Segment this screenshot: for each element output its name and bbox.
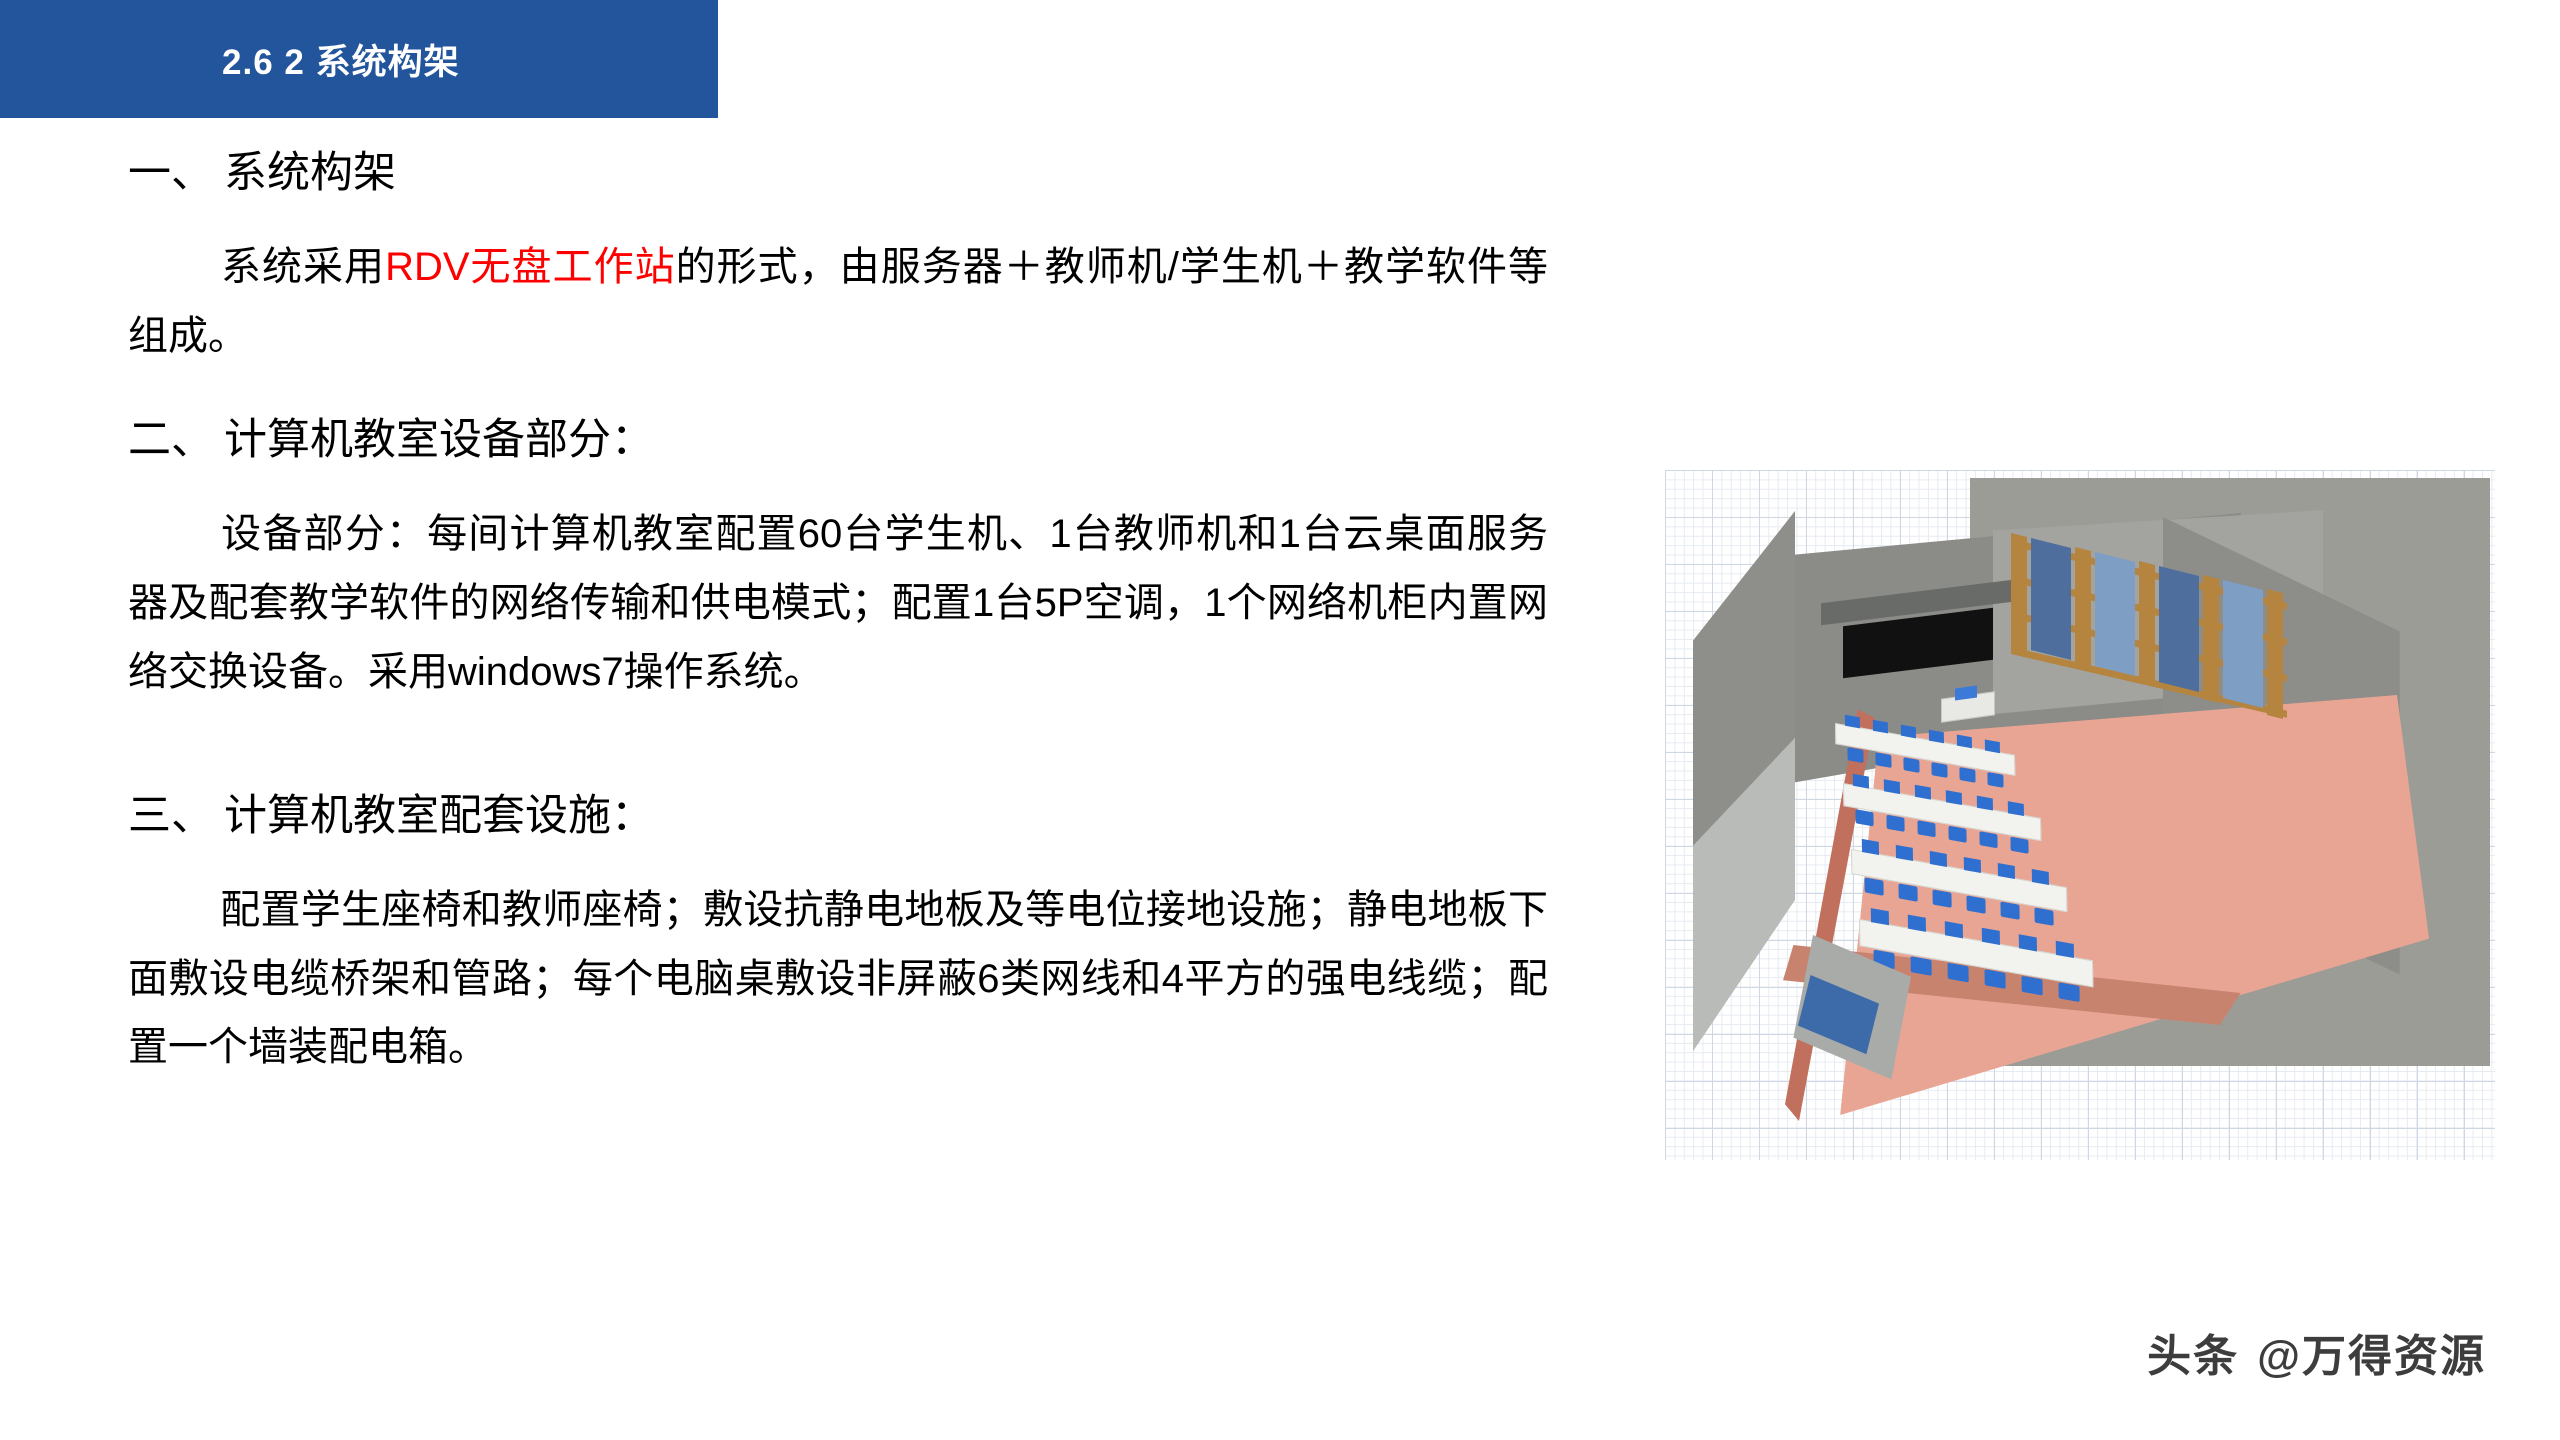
section-separator-2: 、 (171, 416, 224, 464)
header-banner: 2.6 2 系统构架 (0, 0, 718, 118)
section-separator-3: 、 (171, 792, 224, 840)
student-chair (1959, 767, 1975, 783)
student-chair (1847, 747, 1863, 763)
wood-panel (2203, 575, 2219, 703)
section-paragraph-2: 设备部分：每间计算机教室配置60台学生机、1台教师机和1台云桌面服务器及配套教学… (128, 500, 1548, 706)
wood-panel (2139, 561, 2155, 687)
window-pane (2223, 580, 2263, 708)
section-title-2: 计算机教室设备部分： (224, 416, 654, 464)
student-monitor (1945, 921, 1963, 938)
student-chair (1932, 889, 1951, 907)
student-monitor (2019, 934, 2037, 951)
window-pane (2031, 538, 2071, 660)
student-chair (1948, 826, 1966, 843)
student-chair (1931, 762, 1947, 778)
paragraph-text-3: 配置学生座椅和教师座椅；敷设抗静电地板及等电位接地设施；静电地板下面敷设电缆桥架… (128, 888, 1548, 1070)
student-monitor (1964, 857, 1981, 873)
paragraph-part-highlight: RDV无盘工作站 (385, 245, 676, 289)
student-monitor (1871, 908, 1889, 925)
watermark-brand: 头条 (2147, 1320, 2239, 1384)
section-number-1: 一 (128, 149, 171, 197)
section-paragraph-1: 系统采用RDV无盘工作站的形式，由服务器＋教师机/学生机＋教学软件等组成。 (128, 233, 1548, 371)
wood-panel (2267, 589, 2283, 719)
watermark: 头条 @万得资源 (2147, 1320, 2486, 1384)
student-monitor (1908, 915, 1926, 932)
section-separator-1: 、 (171, 149, 224, 197)
wood-panel (2075, 547, 2091, 671)
student-chair (2000, 901, 2019, 919)
content-body: 一、系统构架 系统采用RDV无盘工作站的形式，由服务器＋教师机/学生机＋教学软件… (0, 150, 1610, 1300)
student-chair (1903, 757, 1919, 773)
section-title-1: 系统构架 (224, 149, 396, 197)
watermark-handle: @万得资源 (2257, 1320, 2486, 1384)
wood-panel (2011, 533, 2027, 655)
student-chair (1898, 883, 1917, 901)
section-heading-3: 三、计算机教室配套设施： (128, 793, 1610, 840)
student-monitor (2056, 941, 2074, 958)
classroom-room-shell (1693, 505, 2483, 1135)
student-monitor (2032, 869, 2049, 885)
student-monitor (1998, 863, 2015, 879)
student-chair (1855, 809, 1873, 826)
student-chair (1886, 815, 1904, 832)
window-pane (2095, 552, 2135, 676)
paragraph-text-2: 设备部分：每间计算机教室配置60台学生机、1台教师机和1台云桌面服务器及配套教学… (128, 512, 1548, 694)
section-number-2: 二 (128, 416, 171, 464)
student-chair (1875, 752, 1891, 768)
student-chair (1979, 831, 1997, 848)
student-chair (2034, 907, 2053, 925)
student-chair (2010, 837, 2028, 854)
section-title-3: 计算机教室配套设施： (224, 792, 654, 840)
page-title: 2.6 2 系统构架 (222, 34, 460, 85)
student-monitor (1982, 928, 2000, 945)
window-pane (2159, 566, 2199, 692)
student-chair (1987, 772, 2003, 788)
student-chair (1966, 895, 1985, 913)
section-number-3: 三 (128, 792, 171, 840)
paragraph-part-plain-1: 系统采用 (220, 245, 385, 289)
section-heading-2: 二、计算机教室设备部分： (128, 417, 1610, 464)
section-heading-1: 一、系统构架 (128, 150, 1610, 197)
student-monitor (1930, 851, 1947, 867)
section-paragraph-3: 配置学生座椅和教师座椅；敷设抗静电地板及等电位接地设施；静电地板下面敷设电缆桥架… (128, 876, 1548, 1082)
student-chair (1864, 877, 1883, 895)
student-chair (1917, 820, 1935, 837)
classroom-3d-illustration (1665, 470, 2495, 1160)
